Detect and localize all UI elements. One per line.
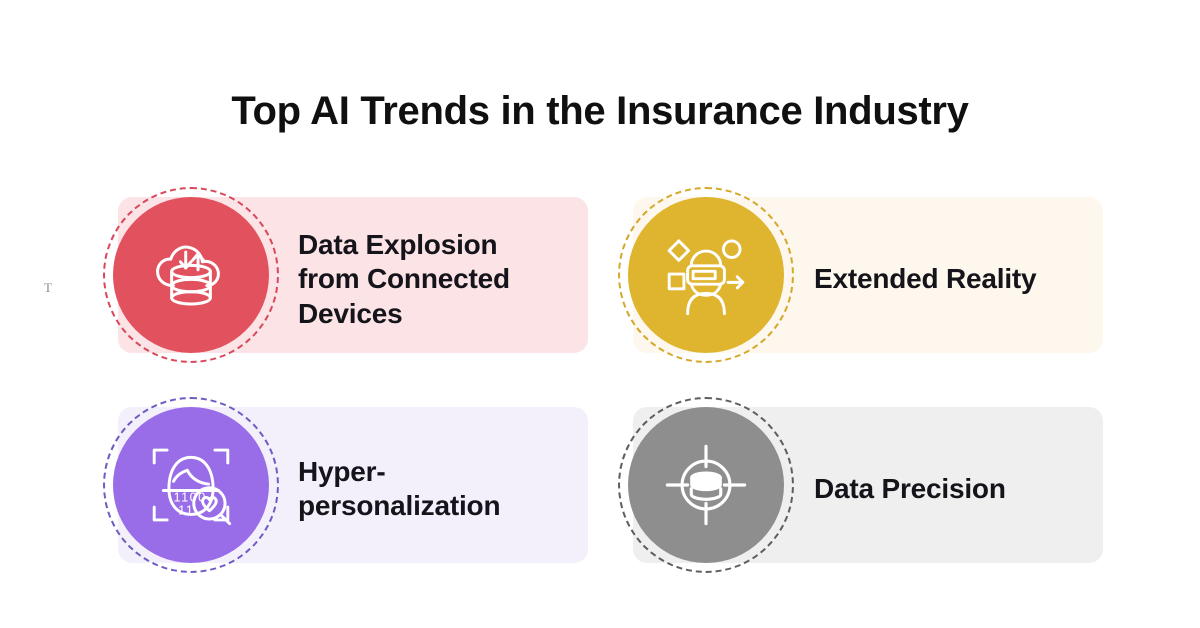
dashed-ring (618, 397, 794, 573)
card-label-hyper-personalization: Hyper- personalization (298, 455, 578, 524)
dashed-ring (103, 187, 279, 363)
card-badge-hyper-personalization[interactable]: 1100 11 (113, 407, 269, 563)
dashed-ring (103, 397, 279, 573)
card-label-extended-reality: Extended Reality (814, 262, 1094, 296)
card-badge-data-explosion[interactable] (113, 197, 269, 353)
infographic-canvas: Top AI Trends in the Insurance Industry … (0, 0, 1200, 628)
page-title: Top AI Trends in the Insurance Industry (0, 87, 1200, 135)
card-badge-data-precision[interactable] (628, 407, 784, 563)
edge-artifact-glyph: T (44, 281, 52, 294)
card-badge-extended-reality[interactable] (628, 197, 784, 353)
card-label-data-explosion: Data Explosion from Connected Devices (298, 228, 568, 331)
card-label-data-precision: Data Precision (814, 472, 1094, 506)
dashed-ring (618, 187, 794, 363)
